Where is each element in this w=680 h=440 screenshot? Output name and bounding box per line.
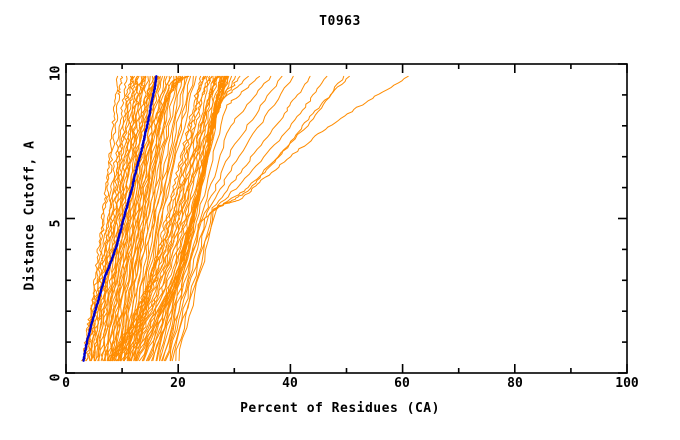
plot-canvas bbox=[0, 0, 680, 440]
figure-container: T0963 Distance Cutoff, A Percent of Resi… bbox=[0, 0, 680, 440]
model-curve bbox=[176, 76, 349, 360]
model-curve bbox=[157, 76, 235, 360]
model-curve bbox=[166, 76, 294, 360]
model-curves-layer bbox=[82, 76, 409, 360]
